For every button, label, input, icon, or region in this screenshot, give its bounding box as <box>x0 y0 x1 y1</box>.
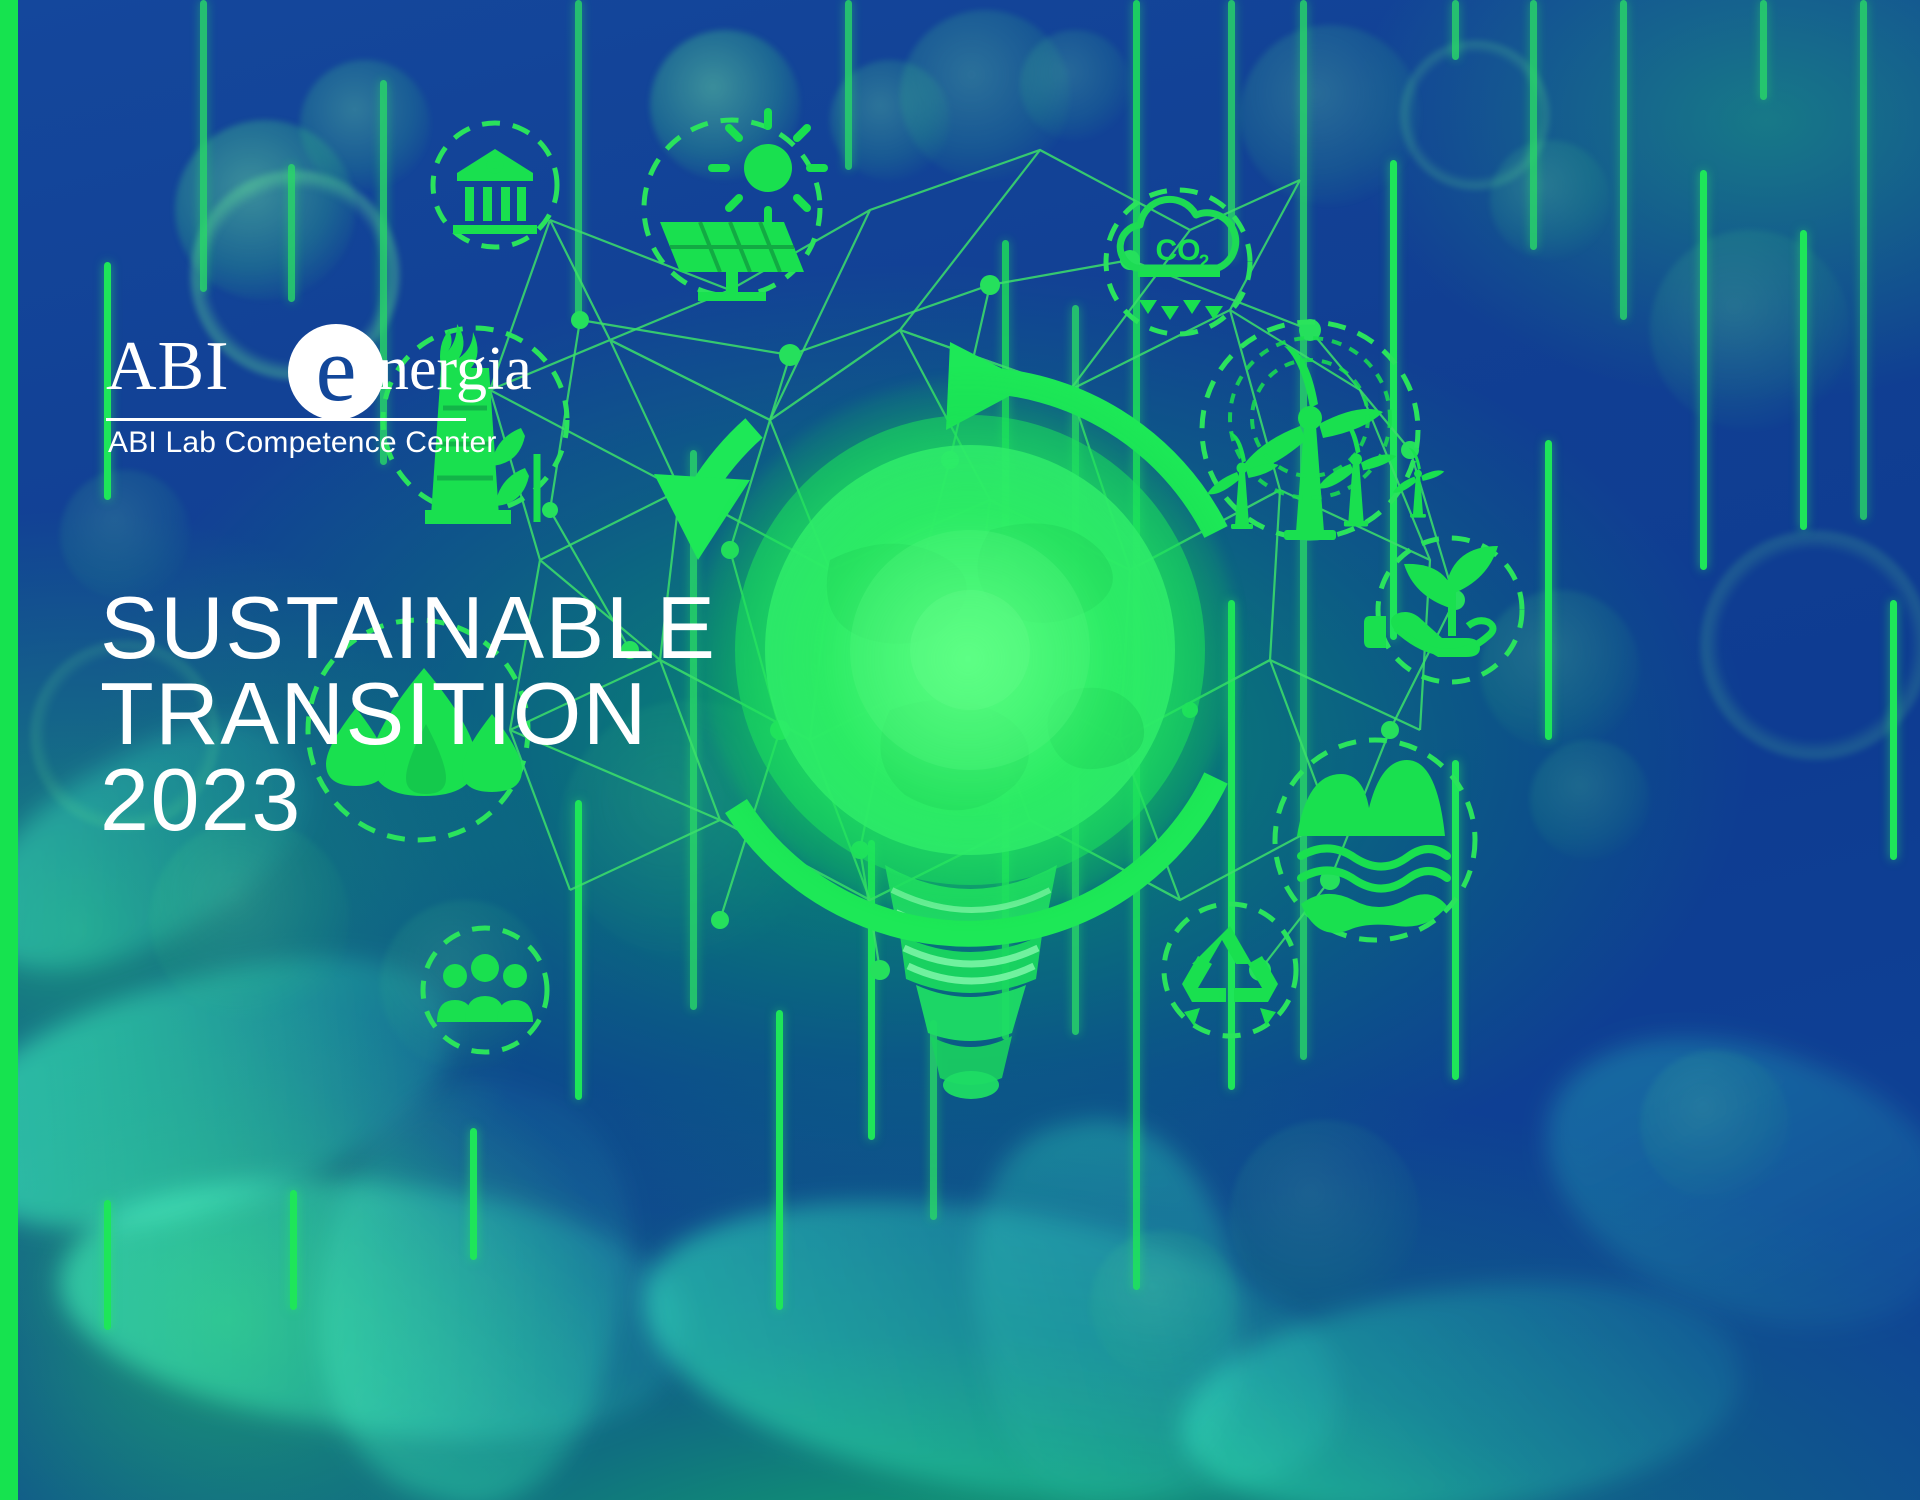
left-accent-bar <box>0 0 18 1500</box>
co2-down-arrows <box>1139 278 1223 320</box>
co2-label: CO <box>1156 234 1201 267</box>
brand-logo: ABI e nergia ABI Lab Competence Center <box>100 330 570 408</box>
title-line-1: SUSTAINABLE <box>100 585 860 671</box>
node-solar <box>644 112 824 301</box>
recycle-icon <box>1182 926 1278 1026</box>
node-recycle <box>1164 904 1296 1036</box>
node-people <box>423 928 547 1052</box>
brand-wordmark: ABI e nergia <box>100 330 570 408</box>
cover-title: SUSTAINABLE TRANSITION 2023 <box>100 585 860 843</box>
people-community-icon <box>437 954 533 1022</box>
brand-name-part-2: nergia <box>378 334 532 404</box>
brand-e-letter: e <box>288 324 384 420</box>
report-cover: CO 2 <box>0 0 1920 1500</box>
title-year: 2023 <box>100 757 860 843</box>
bank-institution-icon <box>453 149 537 234</box>
brand-name-part-1: ABI <box>106 330 230 404</box>
brand-divider <box>106 418 466 421</box>
hand-holding-plant-icon <box>1364 546 1498 657</box>
title-line-2: TRANSITION <box>100 671 860 757</box>
brand-tagline: ABI Lab Competence Center <box>108 426 497 460</box>
water-landscape-icon <box>1297 760 1447 933</box>
node-bank <box>433 123 557 247</box>
co2-subscript-label: 2 <box>1199 252 1210 273</box>
brand-e-mark: e <box>288 324 384 420</box>
